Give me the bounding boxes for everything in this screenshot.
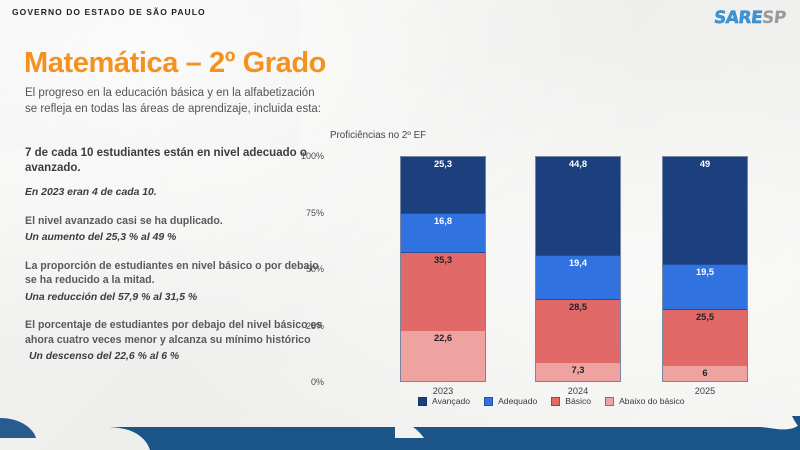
finding-4-note: Un descenso del 22,6 % al 6 % [25, 350, 330, 365]
finding-1-note: En 2023 eran 4 de cada 10. [25, 186, 330, 201]
bar-segment-label: 7,3 [572, 365, 585, 375]
bar-segment-label: 22,6 [434, 333, 452, 343]
bar-stack[interactable]: 44,819,428,57,32024 [535, 156, 621, 382]
bar-segment-label: 16,8 [434, 216, 452, 226]
saresp-logo: SARE SP [714, 8, 786, 28]
logo-sare-text: SARE [713, 8, 763, 28]
bar-segment[interactable]: 25,5 [663, 310, 747, 367]
bar-segment-label: 44,8 [569, 159, 587, 169]
bar-segment-label: 49 [700, 159, 710, 169]
bar-stack[interactable]: 25,316,835,322,62023 [400, 156, 486, 382]
finding-block-1: 7 de cada 10 estudiantes están en nivel … [25, 146, 330, 201]
finding-4-headline: El porcentaje de estudiantes por debajo … [25, 318, 330, 347]
finding-block-3: La proporción de estudiantes en nivel bá… [25, 259, 330, 306]
bar-segment[interactable]: 49 [663, 157, 747, 264]
chart-title: Proficiências no 2º EF [330, 130, 426, 141]
bar-segment[interactable]: 6 [663, 366, 747, 381]
stacked-bar-chart: 0%25%50%75%100%25,316,835,322,6202344,81… [330, 156, 760, 382]
bar-segment-label: 19,4 [569, 258, 587, 268]
y-axis-tick: 0% [311, 377, 324, 387]
finding-1-headline: 7 de cada 10 estudiantes están en nivel … [25, 146, 330, 176]
finding-2-note: Un aumento del 25,3 % al 49 % [25, 231, 330, 246]
y-axis-tick: 50% [306, 264, 324, 274]
bar-segment-label: 28,5 [569, 302, 587, 312]
bar-segment-label: 19,5 [696, 267, 714, 277]
slide-canvas: GOVERNO DO ESTADO DE SÃO PAULO SARE SP M… [0, 0, 800, 450]
bar-segment-label: 35,3 [434, 255, 452, 265]
bar-segment[interactable]: 16,8 [401, 213, 485, 253]
bottom-banner-decoration [0, 404, 800, 450]
finding-block-4: El porcentaje de estudiantes por debajo … [25, 318, 330, 365]
finding-block-2: El nivel avanzado casi se ha duplicado. … [25, 214, 330, 246]
finding-2-headline: El nivel avanzado casi se ha duplicado. [25, 214, 330, 229]
y-axis-tick: 100% [301, 151, 324, 161]
bar-segment[interactable]: 19,5 [663, 264, 747, 310]
finding-3-note: Una reducción del 57,9 % al 31,5 % [25, 291, 330, 306]
bar-segment[interactable]: 7,3 [536, 363, 620, 381]
bar-segment[interactable]: 28,5 [536, 300, 620, 363]
bar-segment[interactable]: 22,6 [401, 331, 485, 381]
y-axis-tick: 75% [306, 208, 324, 218]
bar-segment-label: 6 [702, 368, 707, 378]
bar-segment-label: 25,5 [696, 312, 714, 322]
bar-segment[interactable]: 19,4 [536, 255, 620, 301]
bar-stack[interactable]: 4919,525,562025 [662, 156, 748, 382]
x-axis-label: 2025 [663, 386, 747, 396]
bar-segment[interactable]: 25,3 [401, 157, 485, 213]
lead-paragraph: El progreso en la educación básica y en … [25, 86, 325, 117]
x-axis-label: 2023 [401, 386, 485, 396]
bar-segment-label: 25,3 [434, 159, 452, 169]
x-axis-label: 2024 [536, 386, 620, 396]
page-title: Matemática – 2º Grado [24, 47, 326, 80]
gov-label: GOVERNO DO ESTADO DE SÃO PAULO [12, 7, 206, 17]
finding-3-headline: La proporción de estudiantes en nivel bá… [25, 259, 330, 288]
y-axis-tick: 25% [306, 321, 324, 331]
key-findings-list: 7 de cada 10 estudiantes están en nivel … [25, 146, 330, 378]
bar-segment[interactable]: 35,3 [401, 253, 485, 331]
logo-sp-text: SP [761, 8, 787, 28]
bar-segment[interactable]: 44,8 [536, 157, 620, 255]
